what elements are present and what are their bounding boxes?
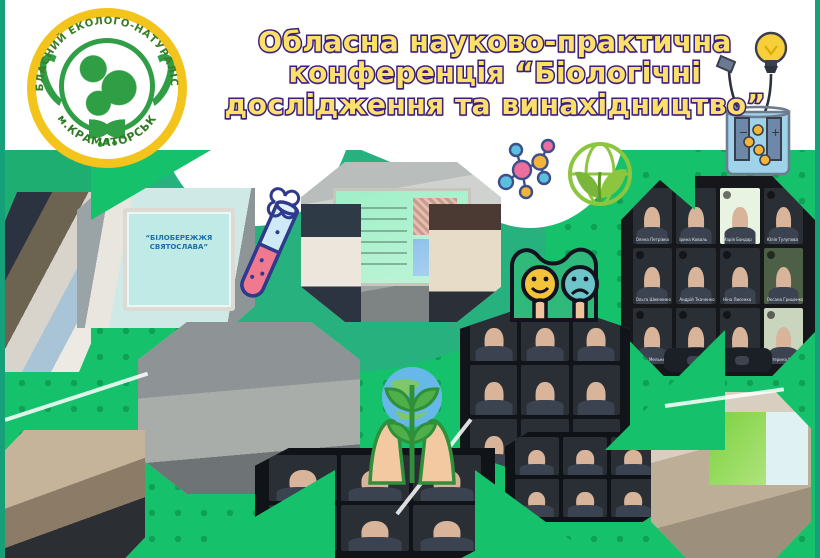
- participant-name: Юлія Тулупова: [767, 237, 798, 242]
- hands-holding-globe-plant-icon: [350, 355, 475, 485]
- video-tile: Оксана Гриценко: [764, 248, 804, 304]
- video-tile: Марія Бондар: [720, 188, 760, 244]
- participant-name: Оксана Гриценко: [767, 297, 804, 302]
- conference-poster: Виступ учасника біля ролап-банера “БІЛОБ…: [0, 0, 820, 558]
- title-line-1: Обласна науково-практична: [205, 26, 785, 57]
- logo-arc-bottom-text: м.КРАМАТОРСЬК: [55, 112, 160, 149]
- page-title: Обласна науково-практична конференція “Б…: [205, 26, 785, 120]
- logo-arc-top-text: ДОНЕЦЬКИЙ ОБЛАСНИЙ ЕКОЛОГО-НАТУРАЛІСТИЧН…: [27, 8, 179, 91]
- video-tile: Ніна Лисенко: [720, 248, 760, 304]
- organization-logo: ДОНЕЦЬКИЙ ОБЛАСНИЙ ЕКОЛОГО-НАТУРАЛІСТИЧН…: [27, 8, 187, 168]
- eco-globe-leaves-icon: [565, 140, 635, 212]
- slide-panel: [766, 412, 808, 485]
- smiley-sad-faces-icon: [510, 232, 620, 322]
- video-tile: [521, 365, 568, 415]
- photo-girl-with-laptop: Учасниця з ноутбуком: [5, 430, 145, 558]
- video-tile: [515, 437, 559, 475]
- video-tile: [573, 365, 620, 415]
- logo-text-ring: ДОНЕЦЬКИЙ ОБЛАСНИЙ ЕКОЛОГО-НАТУРАЛІСТИЧН…: [27, 8, 187, 168]
- mic-icon: [767, 311, 775, 319]
- photo-image: [5, 430, 145, 558]
- video-tile: [413, 505, 481, 551]
- video-tile: [563, 437, 607, 475]
- participant-name: Андрій Ткаченко: [679, 297, 714, 302]
- title-line-3: дослідження та винахідництво”: [205, 89, 785, 120]
- video-tile: Андрій Ткаченко: [676, 248, 716, 304]
- mic-icon: [679, 251, 687, 259]
- participant-name: Ольга Шевченко: [636, 297, 671, 302]
- mic-icon: [723, 311, 731, 319]
- photo-presentation-board: Доповідь біля проєкційного екрана: [301, 162, 501, 322]
- slide-title: “БІЛОБЕРЕЖЖЯ СВЯТОСЛАВА”: [133, 234, 224, 252]
- participant-name: Ніна Лисенко: [723, 297, 751, 302]
- mic-icon: [679, 311, 687, 319]
- participant-name: Олена Петрівна: [636, 237, 669, 242]
- share-icon[interactable]: [735, 356, 749, 365]
- title-line-2: конференція “Біологічні: [205, 57, 785, 88]
- video-tile: Ольга Шевченко: [633, 248, 673, 304]
- video-tile: [563, 479, 607, 517]
- video-tile: [611, 479, 655, 517]
- presentation-screen: “БІЛОБЕРЕЖЖЯ СВЯТОСЛАВА”: [123, 208, 234, 311]
- mic-icon: [723, 191, 731, 199]
- mic-icon: [723, 251, 731, 259]
- mic-icon: [636, 311, 644, 319]
- mic-icon: [767, 251, 775, 259]
- mic-icon: [767, 191, 775, 199]
- participant-name: Ірина Коваль: [679, 237, 707, 242]
- video-tile: [470, 365, 517, 415]
- molecule-icon: [492, 136, 562, 206]
- test-tube-icon: [233, 186, 303, 316]
- svg-text:+: +: [771, 126, 780, 139]
- mic-icon: [636, 251, 644, 259]
- participant-name: Марія Бондар: [723, 237, 752, 242]
